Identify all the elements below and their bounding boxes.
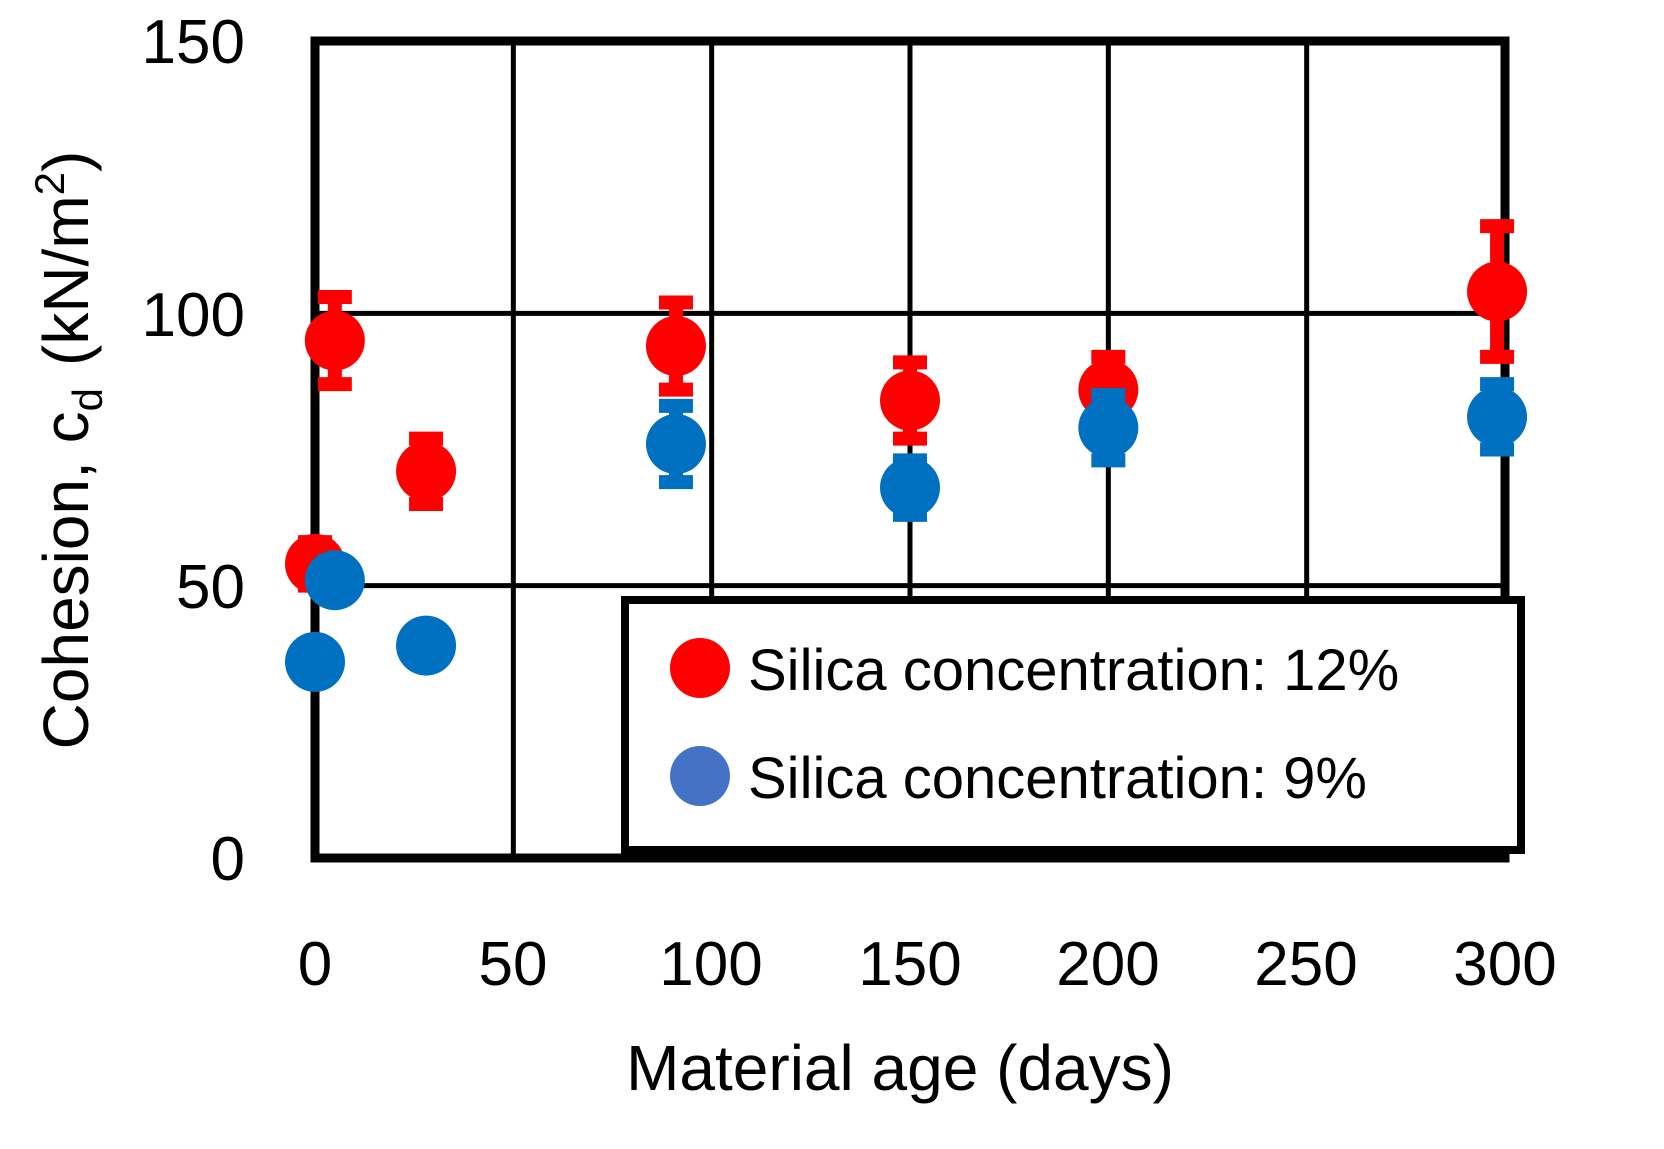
y-tick-label-150: 150 — [142, 8, 245, 77]
data-point-marker — [305, 311, 365, 371]
legend-label-1: Silica concentration: 9% — [748, 746, 1367, 811]
y-axis-title: Cohesion, cd(kN/m2) — [26, 151, 111, 750]
x-tick-label-100: 100 — [659, 930, 762, 999]
legend-marker-1 — [670, 746, 730, 806]
data-point-marker — [285, 632, 345, 692]
data-point-marker — [396, 441, 456, 501]
x-tick-label-250: 250 — [1254, 930, 1357, 999]
legend-label-0: Silica concentration: 12% — [748, 638, 1399, 703]
y-axis-title-unit-superscript: 2 — [26, 172, 73, 195]
x-tick-label-50: 50 — [479, 930, 548, 999]
chart-figure: 150 100 50 0 0 50 100 150 200 250 300 Ma… — [0, 0, 1664, 1149]
data-point-marker — [646, 316, 706, 376]
x-axis-title: Material age (days) — [626, 1032, 1174, 1104]
y-axis-title-main: Cohesion, c — [30, 411, 102, 749]
y-axis-title-unit-close: ) — [30, 151, 102, 172]
data-point-marker — [1078, 398, 1138, 458]
y-tick-label-100: 100 — [142, 281, 245, 350]
data-point-marker — [646, 414, 706, 474]
data-point-marker — [1467, 387, 1527, 447]
y-axis-title-subscript: d — [64, 388, 111, 411]
x-tick-label-0: 0 — [298, 930, 332, 999]
legend-marker-0 — [670, 638, 730, 698]
y-tick-label-0: 0 — [211, 825, 245, 894]
data-point-marker — [305, 550, 365, 610]
y-axis-title-unit-open: (kN/m — [30, 195, 102, 366]
data-point-marker — [396, 616, 456, 676]
scatter-plot: 150 100 50 0 0 50 100 150 200 250 300 Ma… — [0, 0, 1664, 1149]
data-point-marker — [880, 458, 940, 518]
y-tick-label-50: 50 — [176, 553, 245, 622]
x-tick-label-300: 300 — [1453, 930, 1556, 999]
svg-text:Cohesion, cd(kN/m2): Cohesion, cd(kN/m2) — [26, 151, 111, 750]
data-point-marker — [1467, 262, 1527, 322]
x-tick-label-200: 200 — [1056, 930, 1159, 999]
data-point-marker — [880, 370, 940, 430]
legend: Silica concentration: 12% Silica concent… — [625, 600, 1521, 850]
x-tick-label-150: 150 — [858, 930, 961, 999]
